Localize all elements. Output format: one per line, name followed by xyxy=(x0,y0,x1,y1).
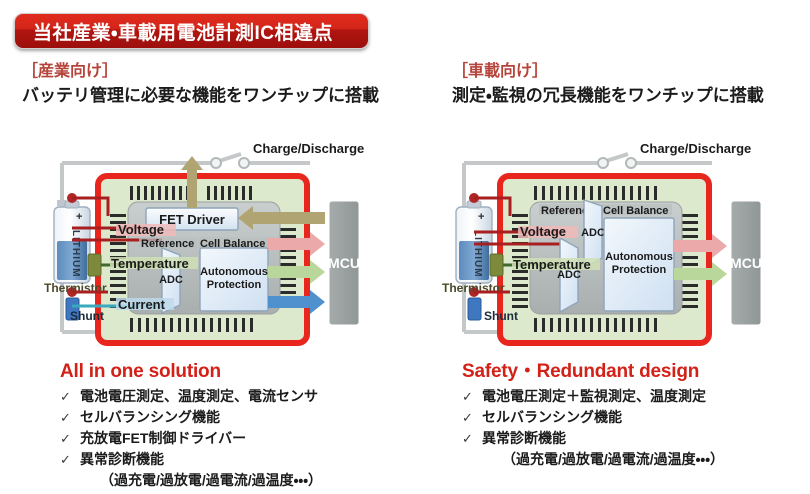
check-icon: ✓ xyxy=(462,428,482,449)
block-label-reference: Reference xyxy=(141,238,194,250)
thermistor xyxy=(88,254,101,276)
check-icon: ✓ xyxy=(60,407,80,428)
battery-label: LITHIUM xyxy=(70,230,81,278)
signal-label-temperature: Temperature xyxy=(513,257,591,272)
check-icon: ✓ xyxy=(462,386,482,407)
list-item-label: セルバランシング機能 xyxy=(80,407,220,428)
column-header-industrial: ［産業向け］ バッテリ管理に必要な機能をワンチップに搭載 xyxy=(22,62,412,108)
check-icon: ✓ xyxy=(60,386,80,407)
block-label-autonomous-protection-2: Protection xyxy=(612,264,667,276)
block-autonomous-protection: Autonomous Protection xyxy=(200,248,268,311)
block-label-adc-1: ADC xyxy=(581,227,605,239)
check-icon: ✓ xyxy=(462,407,482,428)
list-item-label: （過充電/過放電/過電流/過温度・・・） xyxy=(502,449,724,470)
block-diagram-industrial: Charge/Discharge xyxy=(10,140,405,355)
list-item-label: 充放電FET制御ドライバー xyxy=(80,428,246,449)
block-label-autonomous-protection-1: Autonomous xyxy=(605,251,673,263)
conclusion-automotive: Safety・Redundant design ✓ 電池電圧測定＋監視測定、温度… xyxy=(462,360,810,470)
list-item-label: 電池電圧測定、温度測定、電流センサ xyxy=(80,386,318,407)
mcu-block: MCU xyxy=(730,200,762,326)
shunt-label: Shunt xyxy=(484,309,518,323)
list-item: ✓ 異常診断機能 xyxy=(462,428,810,449)
battery-plus-label: + xyxy=(76,211,82,223)
list-item: ✓ 電池電圧測定、温度測定、電流センサ xyxy=(60,386,450,407)
page-title-banner: 当社産業・車載用電池計測IC相違点 xyxy=(14,13,369,49)
check-icon: ✓ xyxy=(60,449,80,470)
battery-label: LITHIUM xyxy=(472,230,483,278)
page-title: 当社産業・車載用電池計測IC相違点 xyxy=(33,18,333,45)
feature-list-industrial: ✓ 電池電圧測定、温度測定、電流センサ ✓ セルバランシング機能 ✓ 充放電FE… xyxy=(60,386,450,491)
list-item-continuation: （過充電/過放電/過電流/過温度・・・） xyxy=(462,449,810,470)
signal-label-temperature: Temperature xyxy=(111,256,189,271)
charge-discharge-switch xyxy=(211,154,249,168)
column-header-automotive: ［車載向け］ 測定・監視の冗長機能をワンチップに搭載 xyxy=(420,62,810,108)
signal-label-voltage: Voltage xyxy=(520,224,566,239)
list-item-label: 異常診断機能 xyxy=(482,428,566,449)
list-item-label: 異常診断機能 xyxy=(80,449,164,470)
block-label-cell-balance: Cell Balance xyxy=(603,205,668,217)
shunt-label: Shunt xyxy=(70,309,104,323)
list-item: ✓ 異常診断機能 xyxy=(60,449,450,470)
mcu-label: MCU xyxy=(730,255,762,271)
switch-label: Charge/Discharge xyxy=(640,141,751,156)
list-item-label: （過充電/過放電/過電流/過温度・・・） xyxy=(100,470,322,491)
list-item: ✓ セルバランシング機能 xyxy=(462,407,810,428)
battery-plus-label: + xyxy=(478,211,484,223)
check-icon: ✓ xyxy=(60,428,80,449)
list-item-label: 電池電圧測定＋監視測定、温度測定 xyxy=(482,386,706,407)
list-item: ✓ 電池電圧測定＋監視測定、温度測定 xyxy=(462,386,810,407)
list-item-continuation: （過充電/過放電/過電流/過温度・・・） xyxy=(60,470,450,491)
subtitle-automotive: 測定・監視の冗長機能をワンチップに搭載 xyxy=(452,84,810,108)
charge-discharge-switch xyxy=(598,154,636,168)
block-label-adc-1: ADC xyxy=(159,274,183,286)
bracket-label-automotive: ［車載向け］ xyxy=(452,62,810,82)
mcu-block: MCU xyxy=(328,200,360,326)
thermistor xyxy=(490,254,503,276)
feature-list-automotive: ✓ 電池電圧測定＋監視測定、温度測定 ✓ セルバランシング機能 ✓ 異常診断機能… xyxy=(462,386,810,470)
conclusion-title-automotive: Safety・Redundant design xyxy=(462,360,810,384)
mcu-label: MCU xyxy=(328,255,360,271)
block-autonomous-protection: Autonomous Protection xyxy=(604,218,674,311)
block-label-autonomous-protection-2: Protection xyxy=(207,279,262,291)
block-adc-2: ADC xyxy=(557,238,581,312)
switch-label: Charge/Discharge xyxy=(253,141,364,156)
signal-label-current: Current xyxy=(118,297,166,312)
block-diagram-automotive: Charge/Discharge xyxy=(412,140,807,355)
conclusion-industrial: All in one solution ✓ 電池電圧測定、温度測定、電流センサ … xyxy=(60,360,450,491)
signal-label-voltage: Voltage xyxy=(118,222,164,237)
conclusion-title-industrial: All in one solution xyxy=(60,360,450,384)
block-label-autonomous-protection-1: Autonomous xyxy=(200,266,268,278)
bracket-label-industrial: ［産業向け］ xyxy=(22,62,412,82)
list-item-label: セルバランシング機能 xyxy=(482,407,622,428)
list-item: ✓ セルバランシング機能 xyxy=(60,407,450,428)
shunt-resistor xyxy=(468,298,481,320)
list-item: ✓ 充放電FET制御ドライバー xyxy=(60,428,450,449)
subtitle-industrial: バッテリ管理に必要な機能をワンチップに搭載 xyxy=(22,84,412,108)
